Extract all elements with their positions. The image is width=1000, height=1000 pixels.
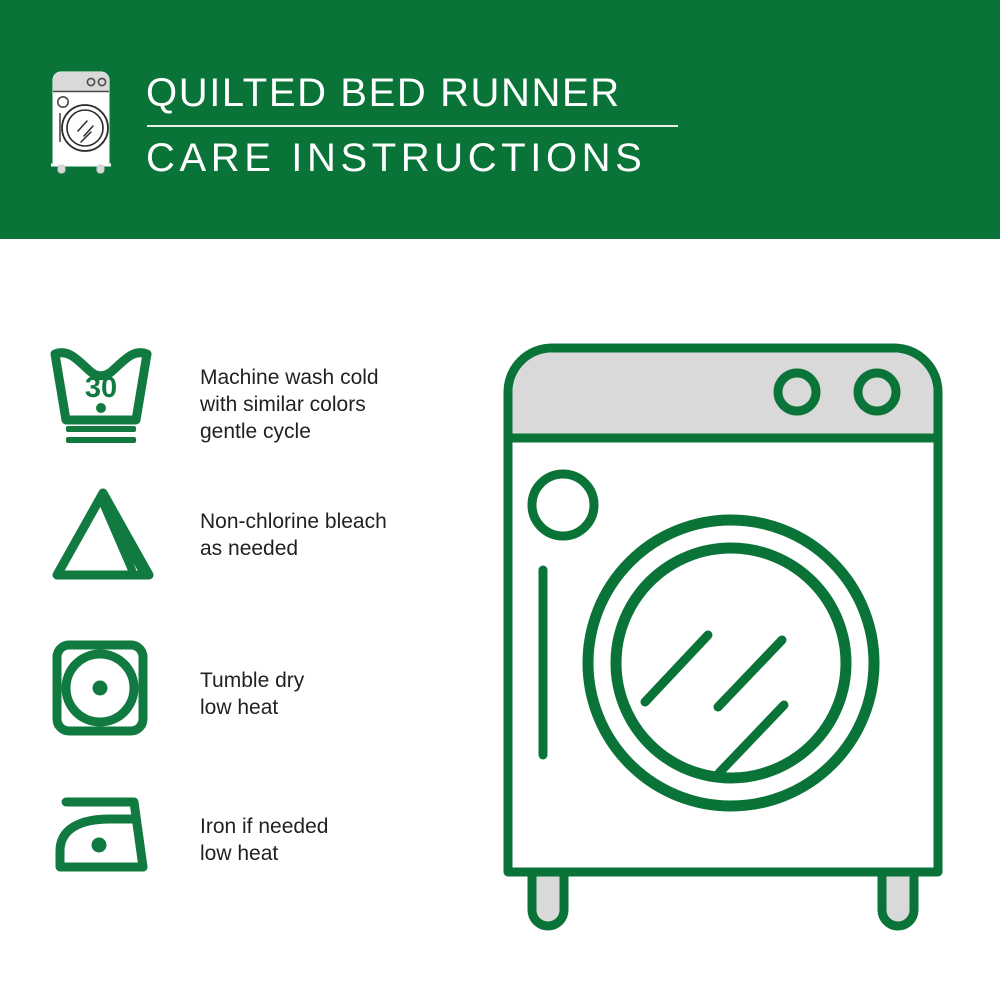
care-label-line: low heat [200,840,328,867]
care-label-line: Tumble dry [200,667,304,694]
washing-machine-logo-icon [47,66,115,174]
care-label-line: low heat [200,694,304,721]
care-label-line: Iron if needed [200,813,328,840]
care-label-line: gentle cycle [200,418,379,445]
title-divider [147,125,678,127]
leg-right [882,872,914,926]
care-label-bleach: Non-chlorine bleach as needed [200,508,387,562]
care-label-line: Machine wash cold [200,364,379,391]
care-label-machine-wash: Machine wash cold with similar colors ge… [200,364,379,445]
bleach-triangle-icon [48,484,158,584]
care-label-line: Non-chlorine bleach [200,508,387,535]
care-row-iron: Iron if needed low heat [48,789,448,879]
page-title: QUILTED BED RUNNER [146,68,686,118]
tumble-dry-icon [48,639,158,739]
iron-icon [48,789,158,879]
care-instructions-infographic: QUILTED BED RUNNER CARE INSTRUCTIONS 30 [0,0,1000,1000]
wash-tub-icon: 30 [48,344,158,449]
care-label-line: with similar colors [200,391,379,418]
care-row-tumble-dry: Tumble dry low heat [48,639,448,739]
header-text-block: QUILTED BED RUNNER CARE INSTRUCTIONS [146,68,686,183]
care-row-bleach: Non-chlorine bleach as needed [48,484,448,584]
washing-machine-illustration [490,330,980,940]
page-subtitle: CARE INSTRUCTIONS [146,133,686,183]
control-panel [513,353,934,435]
header-banner: QUILTED BED RUNNER CARE INSTRUCTIONS [0,0,1000,239]
care-label-line: as needed [200,535,387,562]
wash-temperature-label: 30 [85,372,117,404]
care-row-machine-wash: 30 Machine wash cold with similar colors… [48,344,448,449]
care-label-tumble-dry: Tumble dry low heat [200,667,304,721]
leg-left [532,872,564,926]
care-label-iron: Iron if needed low heat [200,813,328,867]
care-instructions-list: 30 Machine wash cold with similar colors… [0,239,470,1000]
